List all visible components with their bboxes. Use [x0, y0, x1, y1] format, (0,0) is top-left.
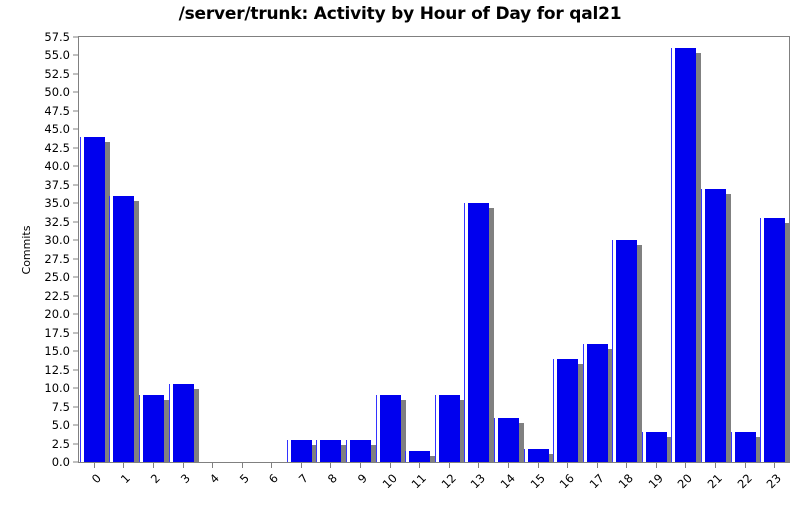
y-axis-tick-label: 0.0 [52, 455, 70, 469]
y-axis-tick-label: 10.0 [44, 381, 70, 395]
bar-highlight-edge [435, 395, 436, 462]
y-axis-tick-label: 42.5 [44, 141, 70, 155]
x-axis-tick-mark [212, 463, 213, 468]
x-axis-tick-mark [271, 463, 272, 468]
y-axis-tick-label: 17.5 [44, 326, 70, 340]
bar[interactable] [467, 203, 489, 462]
x-axis-tick-mark [685, 463, 686, 468]
y-axis-tick-label: 37.5 [44, 178, 70, 192]
bar-highlight-edge [169, 384, 170, 462]
bar[interactable] [586, 344, 608, 462]
bar-chart: /server/trunk: Activity by Hour of Day f… [0, 0, 800, 500]
bar-highlight-edge [316, 440, 317, 462]
bar[interactable] [645, 432, 667, 462]
bar-highlight-edge [553, 359, 554, 462]
bar[interactable] [142, 395, 164, 462]
x-axis-tick-mark [301, 463, 302, 468]
y-axis-tick-label: 22.5 [44, 289, 70, 303]
x-axis-tick-mark [330, 463, 331, 468]
bar[interactable] [290, 440, 312, 462]
bar-highlight-edge [701, 189, 702, 462]
bar[interactable] [319, 440, 341, 462]
y-axis-tick-label: 47.5 [44, 104, 70, 118]
bar-highlight-edge [642, 432, 643, 462]
bar[interactable] [556, 359, 578, 462]
chart-title: /server/trunk: Activity by Hour of Day f… [0, 4, 800, 24]
bar-highlight-edge [612, 240, 613, 462]
y-axis-tick-label: 50.0 [44, 85, 70, 99]
bar[interactable] [349, 440, 371, 462]
x-axis-tick-mark [538, 463, 539, 468]
x-axis-tick-mark [94, 463, 95, 468]
y-axis-tick-label: 52.5 [44, 67, 70, 81]
x-axis-tick-mark [567, 463, 568, 468]
bar-highlight-edge [346, 440, 347, 462]
x-axis-tick-mark [478, 463, 479, 468]
bar[interactable] [408, 451, 430, 462]
bar-highlight-edge [731, 432, 732, 462]
x-axis-tick-mark [449, 463, 450, 468]
x-axis-tick-mark [508, 463, 509, 468]
x-axis-tick-mark [123, 463, 124, 468]
y-axis-tick-label: 32.5 [44, 215, 70, 229]
y-axis-tick-label: 40.0 [44, 159, 70, 173]
y-axis-tick-label: 55.0 [44, 48, 70, 62]
bar-highlight-edge [760, 218, 761, 462]
bar[interactable] [112, 196, 134, 462]
x-axis-tick-mark [774, 463, 775, 468]
x-axis-tick-mark [745, 463, 746, 468]
bar-highlight-edge [583, 344, 584, 462]
x-axis-tick-mark [715, 463, 716, 468]
x-axis-tick-mark [656, 463, 657, 468]
bar[interactable] [704, 189, 726, 462]
bar[interactable] [674, 48, 696, 462]
x-axis-tick-mark [183, 463, 184, 468]
y-axis-tick-label: 12.5 [44, 363, 70, 377]
x-axis-tick-mark [626, 463, 627, 468]
y-axis-tick-label: 30.0 [44, 233, 70, 247]
bar-highlight-edge [671, 48, 672, 462]
bar[interactable] [83, 137, 105, 462]
y-axis-tick-label: 25.0 [44, 270, 70, 284]
bar-highlight-edge [376, 395, 377, 462]
bar-highlight-edge [494, 418, 495, 462]
y-axis-tick-label: 15.0 [44, 344, 70, 358]
bar-highlight-edge [524, 449, 525, 462]
y-axis-tick-label: 27.5 [44, 252, 70, 266]
bar-highlight-edge [405, 451, 406, 462]
bar-highlight-edge [139, 395, 140, 462]
bar-highlight-edge [464, 203, 465, 462]
bar[interactable] [734, 432, 756, 462]
y-axis-tick-label: 20.0 [44, 307, 70, 321]
y-axis-tick-label: 35.0 [44, 196, 70, 210]
x-axis-tick-mark [242, 463, 243, 468]
bar[interactable] [763, 218, 785, 462]
y-axis-label: Commits [20, 226, 33, 275]
y-axis-tick-label: 5.0 [52, 418, 70, 432]
x-axis-tick-mark [597, 463, 598, 468]
x-axis-tick-mark [153, 463, 154, 468]
bar-highlight-edge [109, 196, 110, 462]
bar[interactable] [615, 240, 637, 462]
y-axis-tick-label: 7.5 [52, 400, 70, 414]
bar[interactable] [379, 395, 401, 462]
plot-area [78, 36, 790, 463]
x-axis-tick-mark [390, 463, 391, 468]
bar-highlight-edge [287, 440, 288, 462]
bar[interactable] [438, 395, 460, 462]
y-axis-tick-label: 45.0 [44, 122, 70, 136]
x-axis-tick-mark [360, 463, 361, 468]
bar[interactable] [172, 384, 194, 462]
y-axis-tick-label: 2.5 [52, 437, 70, 451]
bar[interactable] [527, 449, 549, 462]
bar-highlight-edge [80, 137, 81, 462]
y-axis-tick-label: 57.5 [44, 30, 70, 44]
x-axis-tick-mark [419, 463, 420, 468]
bar[interactable] [497, 418, 519, 462]
